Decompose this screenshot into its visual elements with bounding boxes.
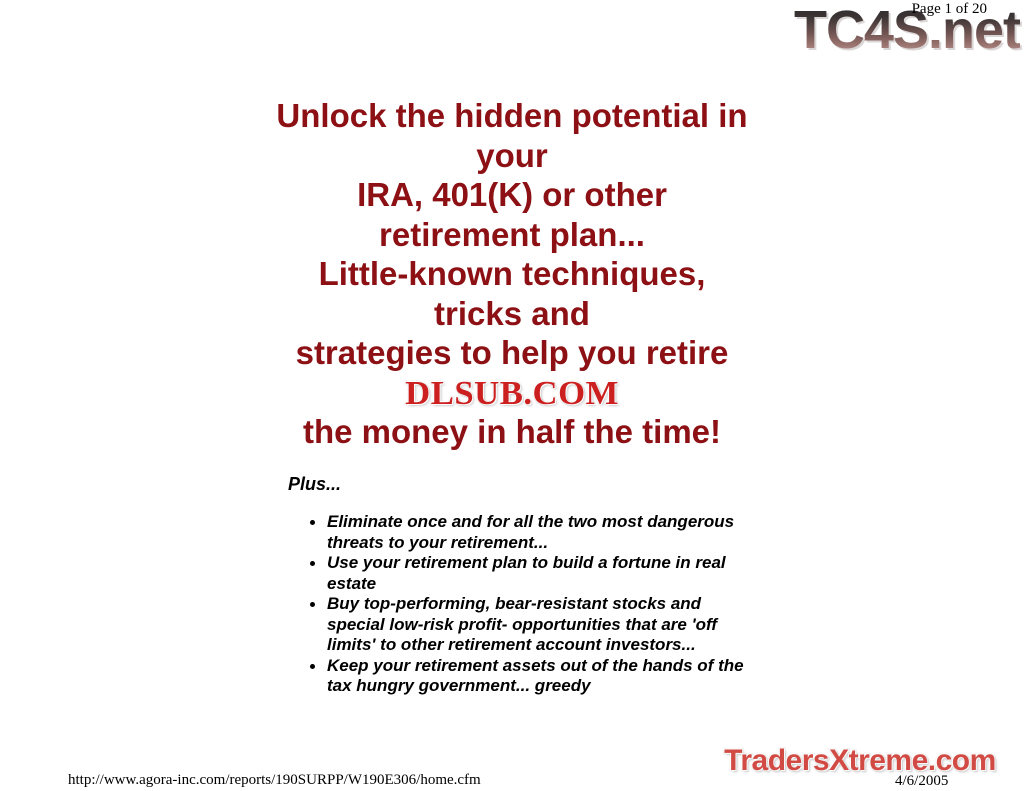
title-line-1: Unlock the hidden potential in: [0, 96, 1024, 136]
bullet-dot-icon: [310, 520, 315, 525]
title-line-8: the money in half the time!: [0, 412, 1024, 452]
bullet-dot-icon: [310, 561, 315, 566]
title-line-7: strategies to help you retire: [0, 333, 1024, 373]
title-line-2: your: [0, 136, 1024, 176]
list-item-text: Use your retirement plan to build a fort…: [327, 553, 726, 593]
title-line-3: IRA, 401(K) or other: [0, 175, 1024, 215]
list-item-text: Keep your retirement assets out of the h…: [327, 656, 744, 696]
slide-page: TC4S.net Page 1 of 20 Unlock the hidden …: [0, 0, 1024, 791]
tradersxtreme-watermark-logo: TradersXtreme.com: [700, 744, 1020, 778]
list-item: Eliminate once and for all the two most …: [305, 512, 745, 553]
title-line-4: retirement plan...: [0, 215, 1024, 255]
list-item-text: Buy top-performing, bear-resistant stock…: [327, 594, 717, 654]
list-item: Keep your retirement assets out of the h…: [305, 656, 745, 697]
list-item: Use your retirement plan to build a fort…: [305, 553, 745, 594]
benefits-list: Eliminate once and for all the two most …: [305, 512, 745, 697]
title-line-5: Little-known techniques,: [0, 254, 1024, 294]
footer-url[interactable]: http://www.agora-inc.com/reports/190SURP…: [68, 771, 481, 789]
list-item: Buy top-performing, bear-resistant stock…: [305, 594, 745, 656]
bullet-dot-icon: [310, 602, 315, 607]
bullet-dot-icon: [310, 664, 315, 669]
footer-date: 4/6/2005: [895, 772, 948, 790]
dlsub-watermark-logo: DLSUB.COM: [363, 375, 661, 413]
title-line-6: tricks and: [0, 294, 1024, 334]
list-item-text: Eliminate once and for all the two most …: [327, 512, 734, 552]
plus-label: Plus...: [288, 474, 341, 495]
page-number-label: Page 1 of 20: [912, 1, 987, 18]
